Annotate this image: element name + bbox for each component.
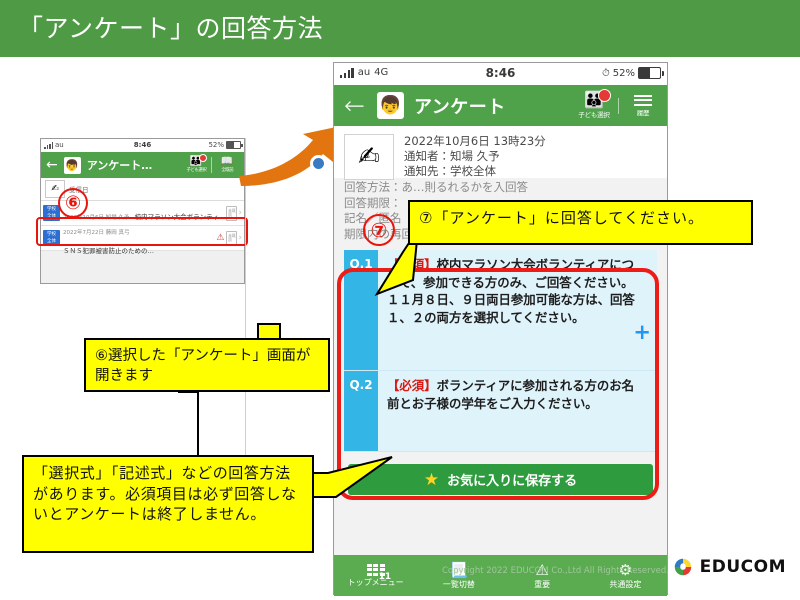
- callout-answer-methods: 「選択式」「記述式」などの回答方法があります。必須項目は必ず回答しないとアンケー…: [22, 455, 314, 553]
- educom-logo: EDUCOM: [672, 556, 786, 578]
- hamburger-icon: [634, 95, 652, 106]
- battery-percent-label: 52%: [208, 141, 224, 149]
- survey-meta-lines: 2022年10月6日 13時23分 通知者：知場 久予 通知先：学校全体: [404, 134, 546, 179]
- callout-3-tail: [306, 455, 396, 509]
- book-icon: 📖: [221, 157, 233, 167]
- child-select-button[interactable]: 👪 子ども選択: [570, 85, 618, 126]
- step-marker-6: ⑥: [58, 188, 88, 218]
- tab-top-menu-label: トップメニュー: [348, 577, 404, 588]
- arrow-endpoint-dot: [310, 155, 327, 172]
- callout-step-6: ⑥選択した「アンケート」画面が開きます: [84, 338, 330, 392]
- tab-list-toggle-label: 一覧切替: [443, 579, 475, 590]
- page-title: 「アンケート」の回答方法: [18, 9, 323, 45]
- callout-step-6-text: ⑥選択した「アンケート」画面が開きます: [86, 340, 328, 392]
- slide-root: 「アンケート」の回答方法 au 8:46 52% ← 👦 アンケート… 👪: [0, 0, 800, 600]
- educom-logo-text: EDUCOM: [700, 557, 786, 577]
- avatar[interactable]: 👦: [377, 92, 404, 119]
- save-favorite-label: お気に入りに保存する: [447, 470, 577, 489]
- callout-1-pointer: [176, 390, 200, 458]
- right-navbar-actions: 👪 子ども選択 履歴: [570, 85, 667, 126]
- question-row[interactable]: Q.2 【必須】ボランティアに参加される方のお名前とお子様の学年をご入力ください…: [344, 371, 657, 452]
- back-icon[interactable]: ←: [344, 93, 365, 118]
- history-button[interactable]: 履歴: [619, 85, 667, 126]
- left-highlight-box: [36, 217, 248, 246]
- survey-pen-icon: ✍: [344, 134, 394, 180]
- copyright-text: Copyright 2022 EDUCOM Co.,Ltd All Rights…: [442, 566, 669, 576]
- child-select-button[interactable]: 👪 子ども選択: [181, 152, 211, 178]
- notification-badge: [199, 154, 207, 162]
- required-marker: 【必須】: [387, 378, 437, 393]
- battery-icon: [638, 67, 661, 79]
- question-label: Q.2: [344, 371, 378, 451]
- child-select-label: 子ども選択: [186, 167, 206, 173]
- survey-sender: 通知者：知場 久予: [404, 149, 546, 164]
- tab-important-label: 重要: [534, 579, 550, 590]
- avatar[interactable]: 👦: [64, 157, 81, 174]
- right-phone-screen: au 4G 8:46 ⏱ 52% ← 👦 アンケート 👪 子ども選択: [333, 62, 668, 595]
- callout-2-tail: [355, 238, 485, 296]
- callout-step-7: ⑦「アンケート」に回答してください。: [408, 200, 753, 245]
- right-content-area: ✍ 2022年10月6日 13時23分 通知者：知場 久予 通知先：学校全体 回…: [334, 126, 667, 596]
- bottom-tab-bar: 11 トップメニュー 📃 一覧切替 ⚠ 重要 ⚙ 共通設定 Copyright …: [334, 555, 667, 596]
- right-status-bar: au 4G 8:46 ⏱ 52%: [334, 63, 667, 85]
- educom-logo-icon: [672, 556, 694, 578]
- callout-answer-methods-text: 「選択式」「記述式」などの回答方法があります。必須項目は必ず回答しないとアンケー…: [24, 457, 312, 531]
- tab-common-settings-label: 共通設定: [609, 579, 641, 590]
- star-icon: ★: [424, 470, 439, 490]
- list-item-subject: ＳＮＳ犯罪被害防止のための…: [63, 247, 154, 255]
- tab-badge-count: 11: [379, 572, 392, 582]
- history-label: 履歴: [637, 107, 650, 117]
- tab-top-menu[interactable]: 11 トップメニュー: [334, 564, 417, 588]
- info-answer-method: 回答方法：あ…則るれるかを入回答: [344, 180, 657, 196]
- left-app-navbar: ← 👦 アンケート… 👪 子ども選択 📖 全既読: [41, 152, 244, 178]
- plus-icon[interactable]: +: [633, 322, 651, 343]
- right-battery-area: ⏱ 52%: [602, 67, 661, 79]
- left-app-title: アンケート…: [87, 157, 153, 173]
- right-app-navbar: ← 👦 アンケート 👪 子ども選択 履歴: [334, 85, 667, 126]
- survey-recipient: 通知先：学校全体: [404, 164, 546, 179]
- notification-badge: [598, 89, 611, 102]
- question-text: 【必須】ボランティアに参加される方のお名前とお子様の学年をご入力ください。: [378, 371, 657, 451]
- mark-all-read-label: 全既読: [221, 167, 233, 173]
- alarm-icon: ⏱: [602, 68, 610, 79]
- right-app-title: アンケート: [414, 93, 506, 119]
- left-status-bar: au 8:46 52%: [41, 139, 244, 152]
- callout-step-7-text: ⑦「アンケート」に回答してください。: [410, 202, 751, 235]
- battery-percent-label: 52%: [613, 68, 635, 79]
- survey-meta-card: ✍ 2022年10月6日 13時23分 通知者：知場 久予 通知先：学校全体: [334, 126, 667, 178]
- back-icon[interactable]: ←: [46, 158, 58, 172]
- left-navbar-actions: 👪 子ども選択 📖 全既読: [181, 152, 242, 178]
- survey-datetime: 2022年10月6日 13時23分: [404, 134, 546, 149]
- child-select-label: 子ども選択: [578, 109, 610, 119]
